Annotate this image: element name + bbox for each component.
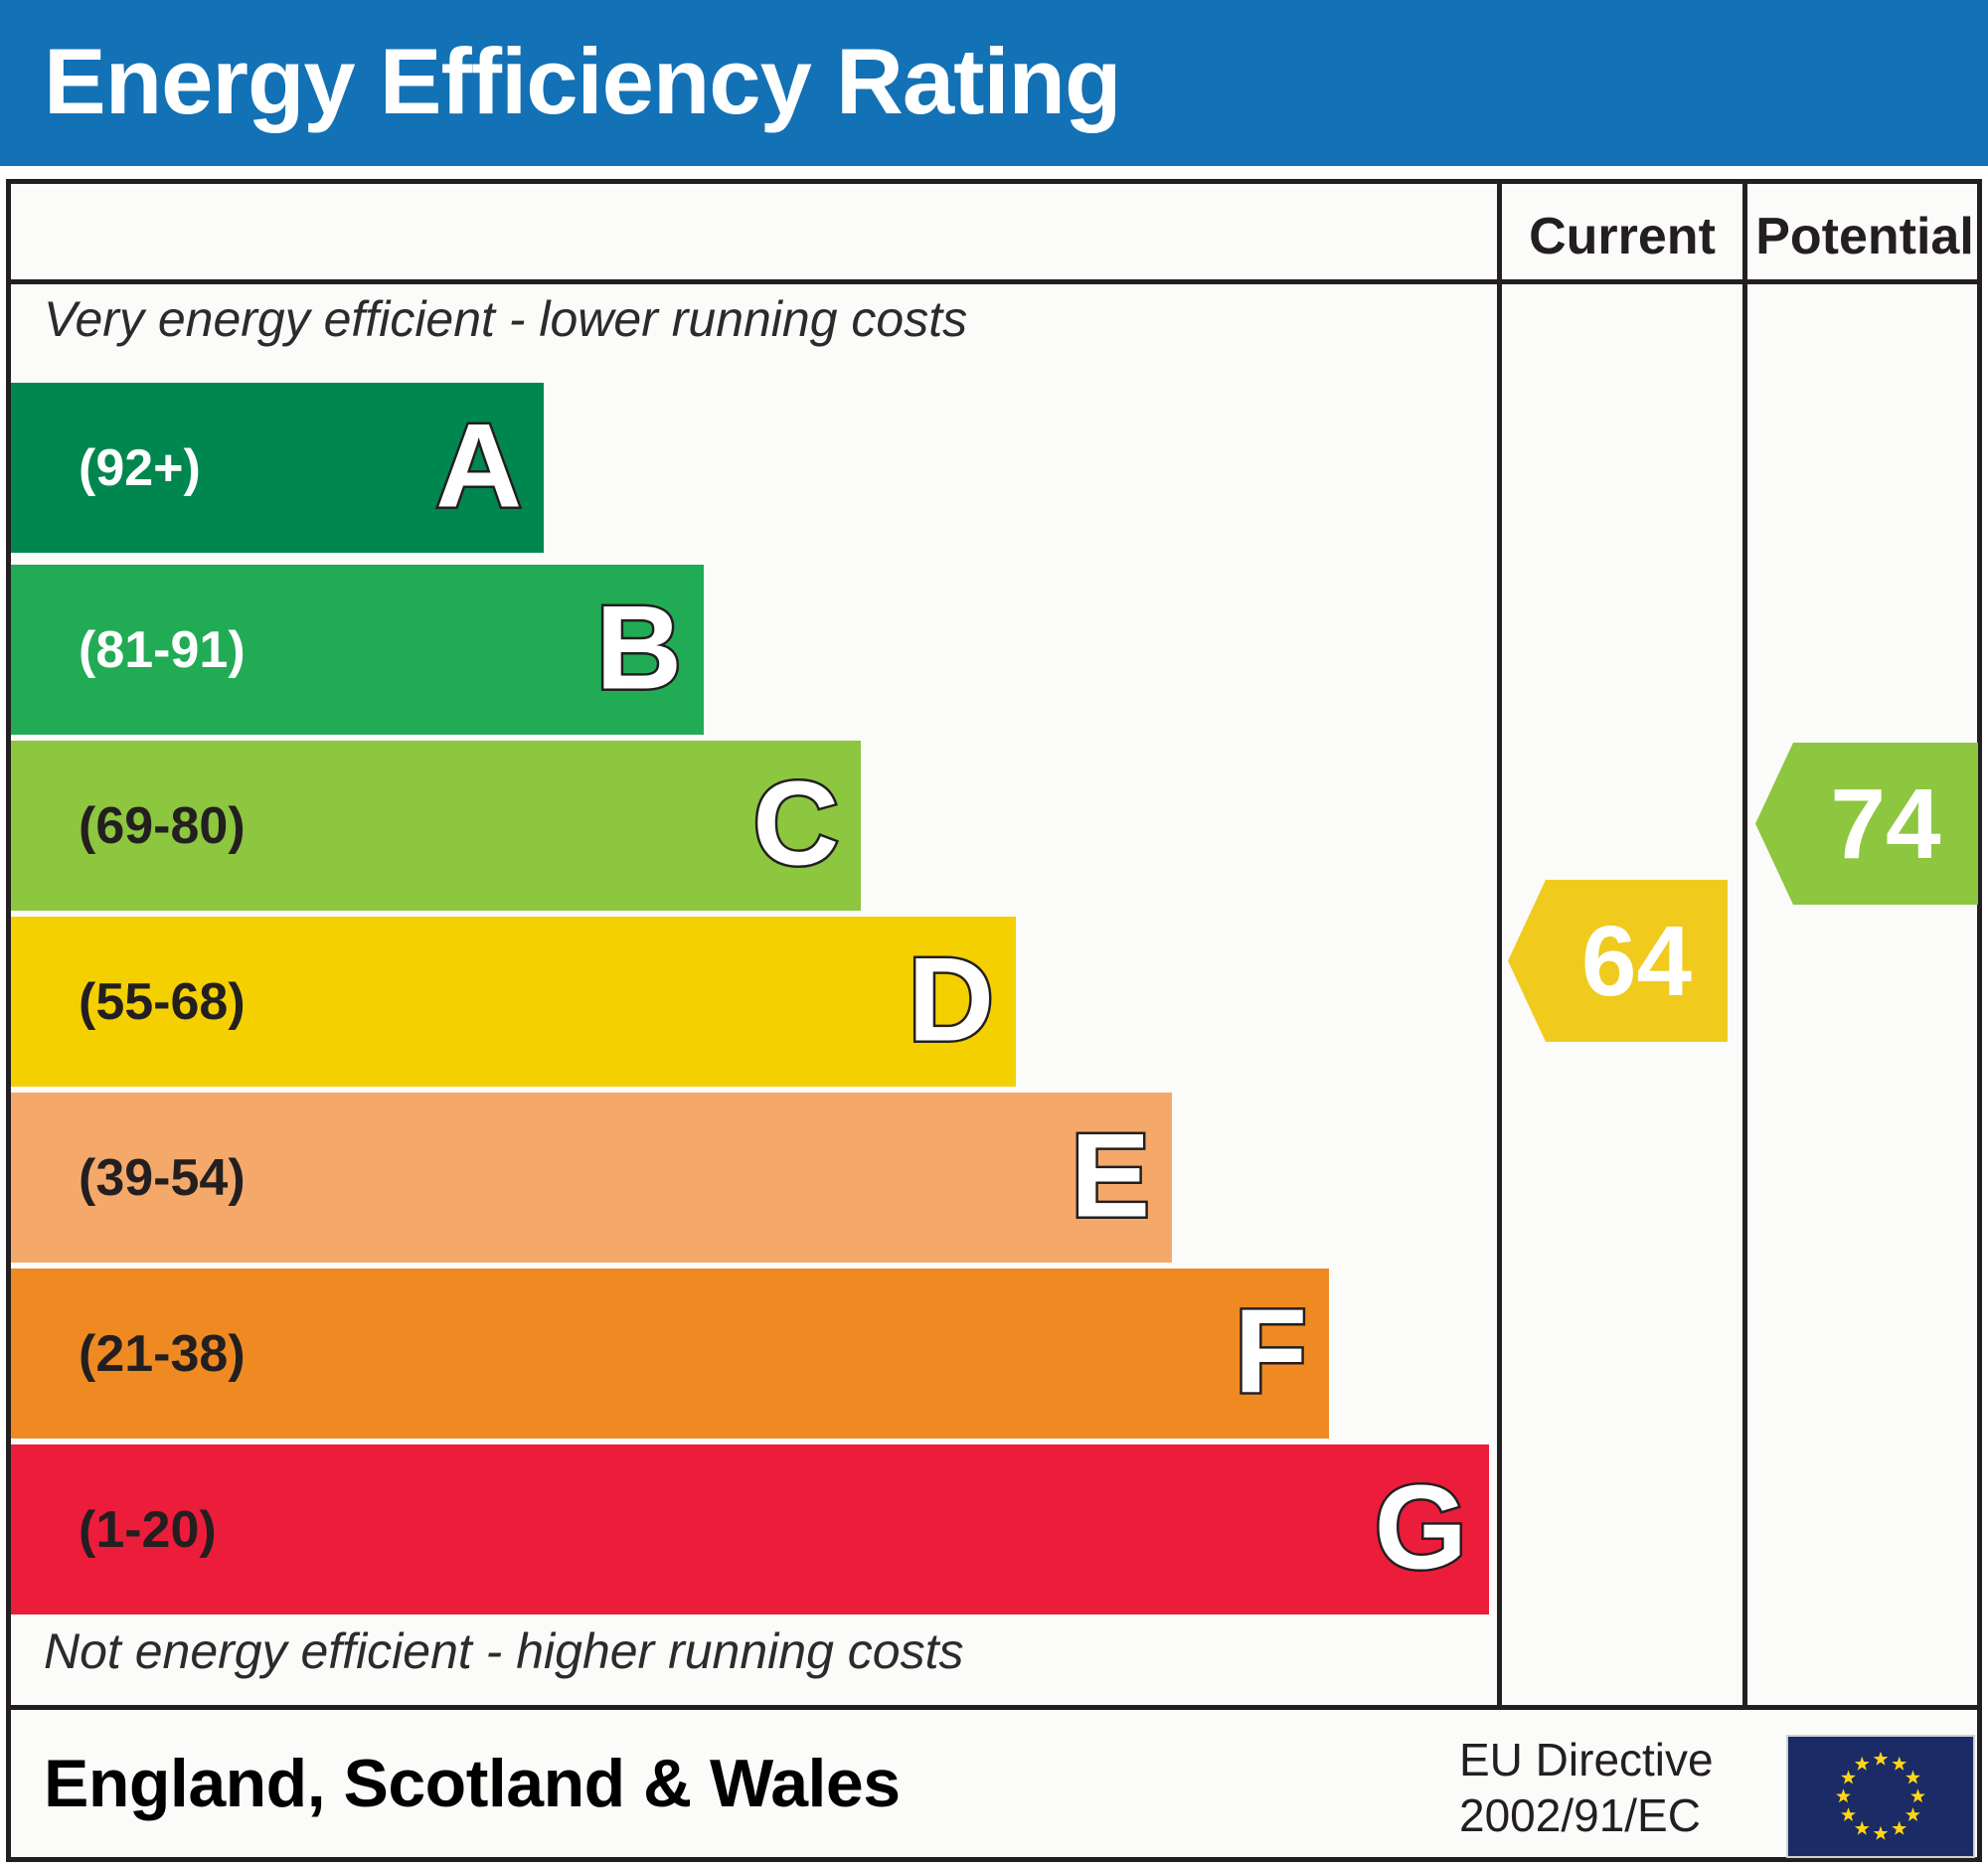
column-header-current: Current [1502, 197, 1742, 276]
band-range-a: (92+) [79, 438, 201, 498]
band-row-a: (92+) A [11, 383, 544, 553]
band-row-c: (69-80) C [11, 741, 861, 911]
current-rating-badge: 64 [1508, 880, 1728, 1042]
caption-very-efficient: Very energy efficient - lower running co… [44, 290, 967, 348]
band-range-e: (39-54) [79, 1148, 246, 1208]
band-letter-b: B [595, 588, 682, 707]
band-range-c: (69-80) [79, 796, 246, 856]
band-row-g: (1-20) G [11, 1444, 1489, 1614]
band-range-d: (55-68) [79, 972, 246, 1032]
band-letter-e: E [1071, 1115, 1150, 1235]
band-range-f: (21-38) [79, 1324, 246, 1384]
band-row-d: (55-68) D [11, 917, 1016, 1087]
band-range-b: (81-91) [79, 620, 246, 680]
band-range-g: (1-20) [79, 1500, 217, 1560]
caption-not-efficient: Not energy efficient - higher running co… [44, 1622, 964, 1680]
band-letter-f: F [1235, 1291, 1307, 1411]
potential-rating-value: 74 [1792, 774, 1940, 874]
band-letter-a: A [435, 406, 522, 525]
band-letter-g: G [1375, 1467, 1467, 1587]
band-row-e: (39-54) E [11, 1093, 1172, 1263]
band-letter-c: C [752, 764, 839, 883]
band-row-f: (21-38) F [11, 1269, 1329, 1439]
column-header-potential: Potential [1747, 197, 1982, 276]
current-rating-value: 64 [1544, 912, 1692, 1011]
band-row-b: (81-91) B [11, 565, 704, 735]
column-divider-current [1497, 184, 1502, 1705]
eu-flag-icon [1786, 1735, 1975, 1858]
band-letter-d: D [908, 939, 994, 1059]
page-title: Energy Efficiency Rating [44, 22, 1120, 141]
epc-certificate: Energy Efficiency Rating Current Potenti… [0, 0, 1988, 1867]
footer-row-divider [6, 1705, 1982, 1710]
footer-region-label: England, Scotland & Wales [44, 1745, 901, 1822]
potential-rating-badge: 74 [1755, 743, 1978, 905]
header-row-divider [6, 279, 1982, 284]
eu-directive-line1: EU Directive [1459, 1732, 1714, 1787]
eu-directive-line2: 2002/91/EC [1459, 1787, 1714, 1843]
column-divider-potential [1742, 184, 1747, 1705]
rating-bands: (92+) A (81-91) B (69-80) C (55-68) D (3… [11, 383, 1492, 1608]
title-banner: Energy Efficiency Rating [0, 0, 1988, 166]
footer-eu-directive: EU Directive 2002/91/EC [1459, 1732, 1714, 1843]
